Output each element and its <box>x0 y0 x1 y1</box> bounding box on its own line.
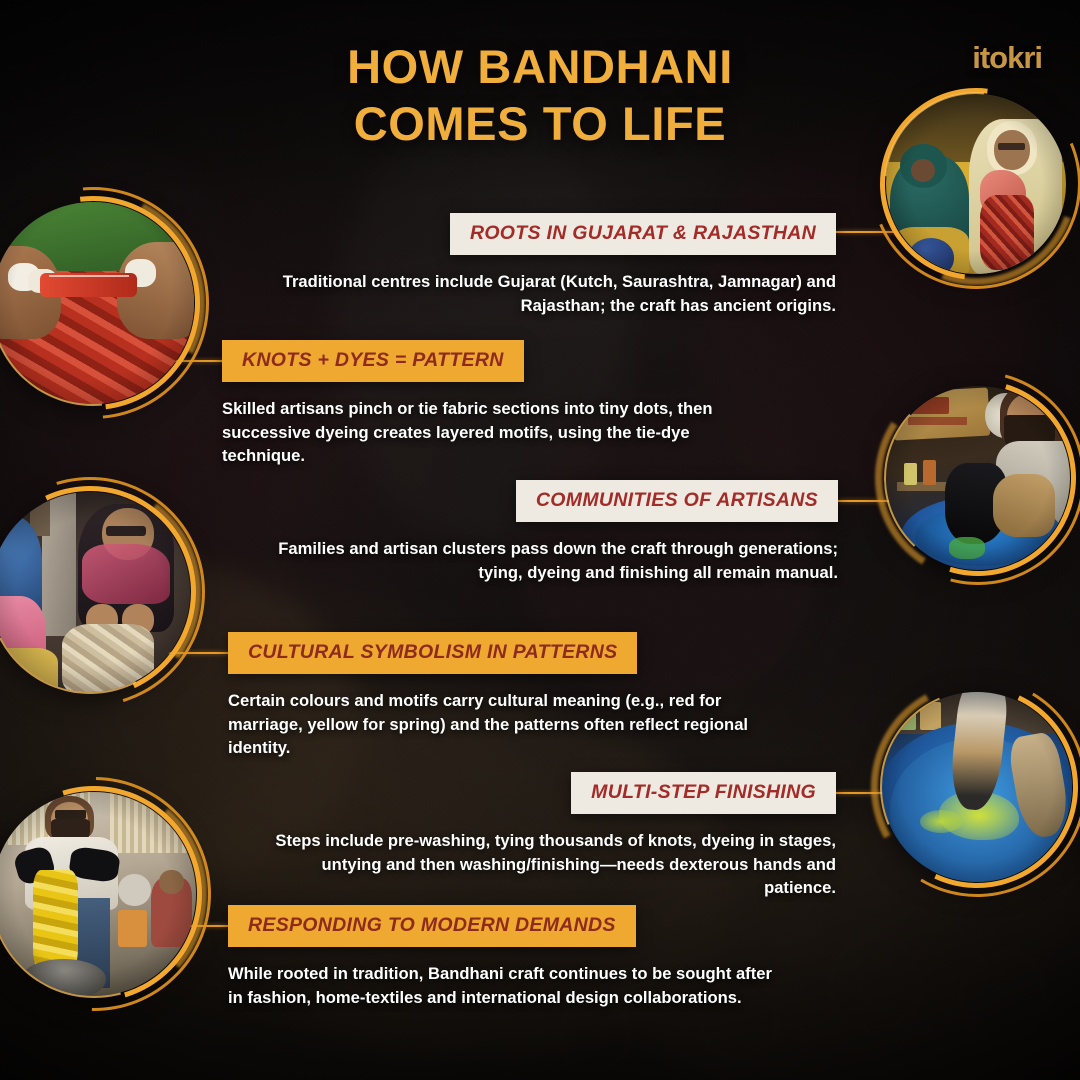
section-badge-knots[interactable]: KNOTS + DYES = PATTERN <box>222 340 524 382</box>
section-body-communities: Families and artisan clusters pass down … <box>272 537 838 584</box>
section-body-modern: While rooted in tradition, Bandhani craf… <box>228 962 776 1009</box>
photo-circle-dyer-blue-tub <box>880 380 1076 576</box>
infographic-canvas: HOW BANDHANI COMES TO LIFE itokri <box>0 0 1080 1080</box>
photo-lifting-yellow-fabric <box>0 792 196 996</box>
section-badge-symbolism[interactable]: CULTURAL SYMBOLISM IN PATTERNS <box>228 632 637 674</box>
section-body-finishing: Steps include pre-washing, tying thousan… <box>272 829 836 900</box>
photo-dipping-blue-vat <box>882 692 1072 882</box>
section-body-symbolism: Certain colours and motifs carry cultura… <box>228 689 760 760</box>
section-symbolism: CULTURAL SYMBOLISM IN PATTERNS Certain c… <box>228 632 760 760</box>
section-body-knots: Skilled artisans pinch or tie fabric sec… <box>222 397 740 468</box>
photo-women-tying-cream <box>0 492 190 692</box>
title-line-1: HOW BANDHANI <box>0 38 1080 95</box>
section-communities: COMMUNITIES OF ARTISANS Families and art… <box>272 480 838 584</box>
section-modern: RESPONDING TO MODERN DEMANDS While roote… <box>228 905 776 1009</box>
section-finishing: MULTI-STEP FINISHING Steps include pre-w… <box>272 772 836 900</box>
brand-logo[interactable]: itokri <box>972 40 1042 76</box>
section-knots: KNOTS + DYES = PATTERN Skilled artisans … <box>222 340 740 468</box>
section-badge-finishing[interactable]: MULTI-STEP FINISHING <box>571 772 836 814</box>
title-line-2: COMES TO LIFE <box>0 95 1080 152</box>
section-badge-communities[interactable]: COMMUNITIES OF ARTISANS <box>516 480 838 522</box>
photo-circle-women-tying-cream <box>0 486 196 698</box>
section-roots: ROOTS IN GUJARAT & RAJASTHAN Traditional… <box>270 213 836 317</box>
section-badge-roots[interactable]: ROOTS IN GUJARAT & RAJASTHAN <box>450 213 836 255</box>
photo-circle-dipping-blue-vat <box>876 686 1078 888</box>
photo-circle-lifting-yellow-fabric <box>0 786 202 1002</box>
section-badge-modern[interactable]: RESPONDING TO MODERN DEMANDS <box>228 905 636 947</box>
page-title: HOW BANDHANI COMES TO LIFE <box>0 38 1080 153</box>
photo-dyer-blue-tub <box>886 386 1070 570</box>
brand-logo-text: itokri <box>972 40 1042 75</box>
photo-circle-hands-red-fabric <box>0 196 200 410</box>
photo-hands-red-fabric <box>0 202 194 404</box>
section-body-roots: Traditional centres include Gujarat (Kut… <box>270 270 836 317</box>
